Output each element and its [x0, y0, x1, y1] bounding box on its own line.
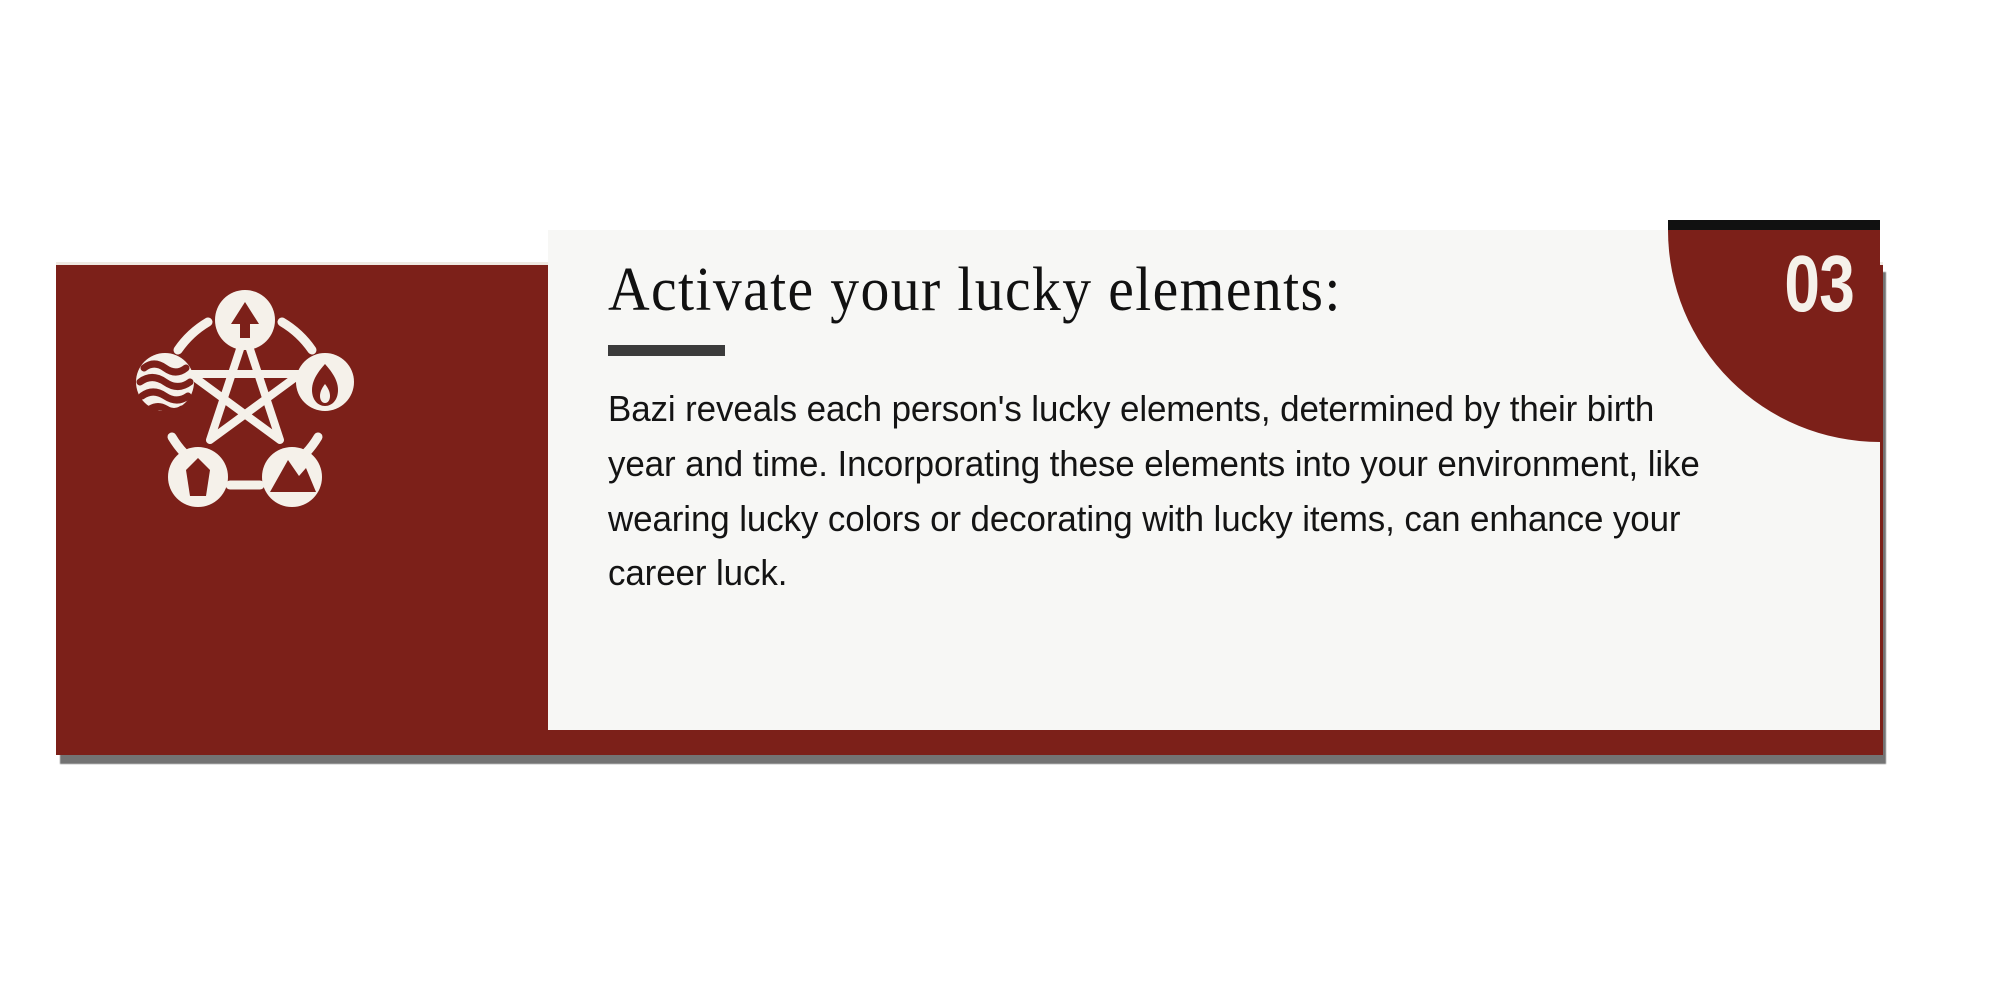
water-waves-icon [136, 353, 194, 412]
page-title: Activate your lucky elements: [608, 258, 1673, 323]
badge-number-text: 03 [1784, 242, 1854, 326]
wood-arrow-icon [215, 290, 275, 350]
ring-arc-wood-fire [282, 322, 312, 350]
earth-mountain-icon [262, 447, 322, 507]
ring-arc-wood-water [178, 322, 208, 350]
content-card: 03 Activate your lucky elements: Bazi re… [548, 230, 1880, 730]
infographic-card: 03 Activate your lucky elements: Bazi re… [0, 0, 2000, 1000]
card-body-text: Bazi reveals each person's lucky element… [608, 382, 1714, 601]
title-divider-rule [608, 345, 725, 356]
ring-arc-fire-earth [306, 437, 318, 453]
ring-arc-water-metal [172, 437, 184, 453]
card-content: Activate your lucky elements: Bazi revea… [608, 258, 1753, 601]
five-elements-emblem [120, 272, 370, 522]
metal-gem-icon [168, 447, 228, 507]
badge-top-edge [1668, 220, 1880, 230]
fire-flame-icon [296, 353, 354, 411]
